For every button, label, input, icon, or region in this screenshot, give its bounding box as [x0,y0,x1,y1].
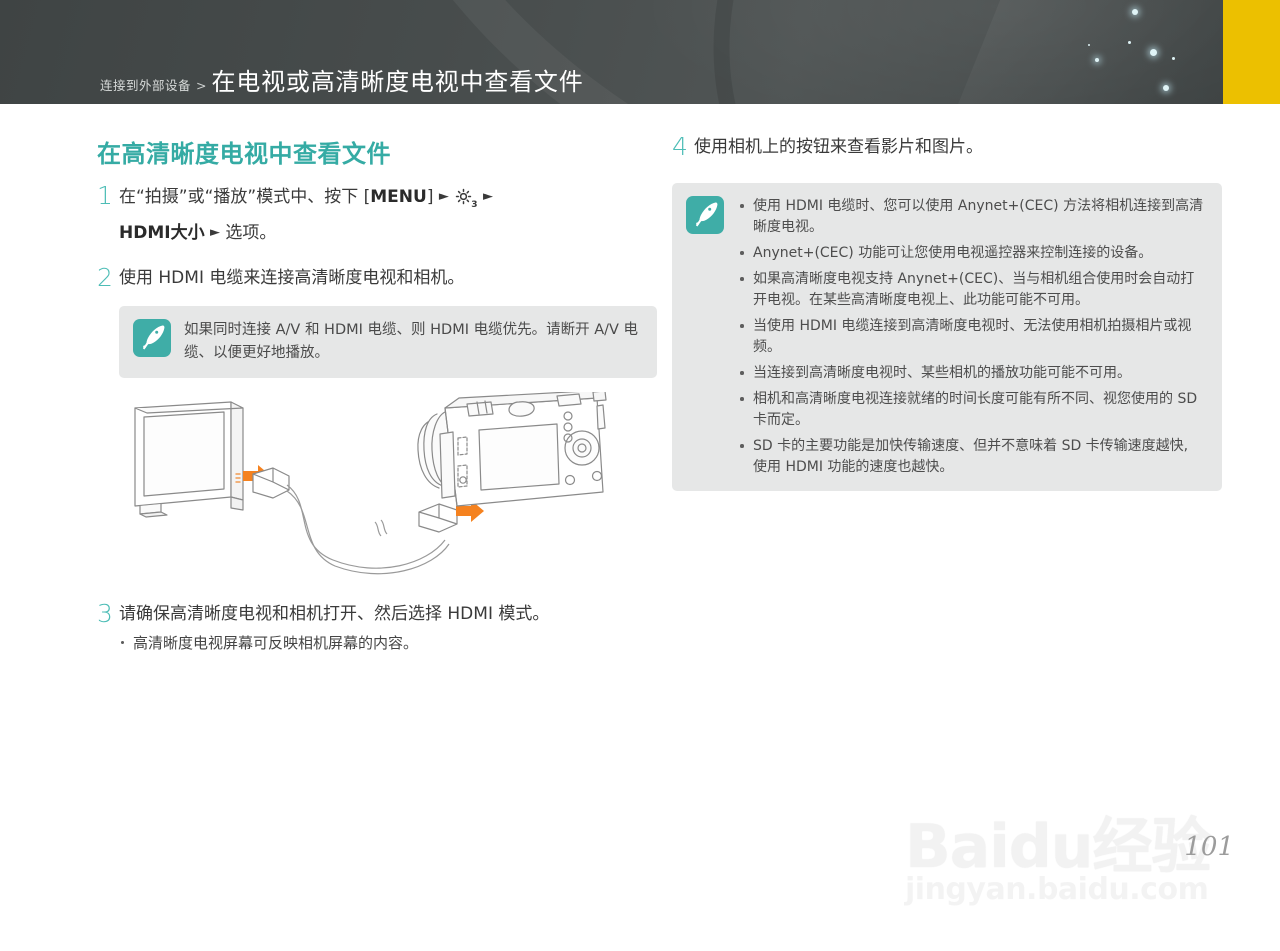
list-item: 使用 HDMI 电缆时、您可以使用 Anynet+(CEC) 方法将相机连接到高… [737,196,1206,238]
header-text-block: 连接到外部设备 > 在电视或高清晰度电视中查看文件 [100,62,584,97]
arrow-right-icon: ► [210,225,220,240]
breadcrumb-separator-icon: > [196,78,206,93]
step-number: 4 [672,134,694,161]
header-sparkle-icon [1132,9,1138,15]
list-item: SD 卡的主要功能是加快传输速度、但并不意味着 SD 卡传输速度越快, 使用 H… [737,436,1206,478]
list-item: 如果高清晰度电视支持 Anynet+(CEC)、当与相机组合使用时会自动打开电视… [737,269,1206,311]
step1-text-part2: ] [427,187,439,207]
header-sparkle-icon [1150,49,1157,56]
menu-button-label: MENU [370,187,427,207]
header-yellow-accent-bar [1223,0,1280,104]
header-sparkle-icon [1163,85,1169,91]
step1-text-part1: 在“拍摄”或“播放”模式中、按下 [ [119,187,370,207]
step-text: 使用相机上的按钮来查看影片和图片。 [694,134,1222,161]
page-title: 在电视或高清晰度电视中查看文件 [212,62,584,97]
step-number: 1 [97,183,119,247]
note-box-left: 如果同时连接 A/V 和 HDMI 电缆、则 HDMI 电缆优先。请断开 A/V… [119,306,657,378]
note-bullet-list: 使用 HDMI 电缆时、您可以使用 Anynet+(CEC) 方法将相机连接到高… [737,196,1206,478]
right-column: 4 使用相机上的按钮来查看影片和图片。 使用 HDMI 电缆时、您可以使用 An… [672,134,1222,491]
step3-sub-bullet-list: 高清晰度电视屏幕可反映相机屏幕的内容。 [119,631,657,655]
hdmi-size-option-label: HDMI大小 [119,223,205,243]
pen-note-icon [133,319,171,357]
header-sparkle-icon [1088,44,1090,46]
page-header: 连接到外部设备 > 在电视或高清晰度电视中查看文件 [0,0,1280,104]
baidu-watermark: Baidu经验 jingyan.baidu.com [905,816,1215,951]
arrow-right-icon: ► [439,189,449,204]
gear-icon [454,187,473,206]
list-item: 当使用 HDMI 电缆连接到高清晰度电视时、无法使用相机拍摄相片或视频。 [737,316,1206,358]
step-2: 2 使用 HDMI 电缆来连接高清晰度电视和相机。 如果同时连接 A/V 和 H… [97,265,657,583]
note-box-right: 使用 HDMI 电缆时、您可以使用 Anynet+(CEC) 方法将相机连接到高… [672,183,1222,491]
step-3: 3 请确保高清晰度电视和相机打开、然后选择 HDMI 模式。 高清晰度电视屏幕可… [97,601,657,655]
header-sparkle-icon [1095,58,1099,62]
step1-text-part3: 选项。 [220,223,276,243]
step-text: 使用 HDMI 电缆来连接高清晰度电视和相机。 如果同时连接 A/V 和 HDM… [119,265,657,583]
note-text: 使用 HDMI 电缆时、您可以使用 Anynet+(CEC) 方法将相机连接到高… [737,196,1206,478]
arrow-right-icon: ► [483,189,493,204]
watermark-brand: Baidu经验 [905,816,1215,878]
step3-text: 请确保高清晰度电视和相机打开、然后选择 HDMI 模式。 [119,601,657,628]
header-sparkle-icon [1128,41,1131,44]
list-item: 相机和高清晰度电视连接就绪的时间长度可能有所不同、视您使用的 SD 卡而定。 [737,389,1206,431]
watermark-url: jingyan.baidu.com [905,872,1215,907]
step-number: 2 [97,265,119,583]
pen-note-icon [686,196,724,234]
list-item: Anynet+(CEC) 功能可让您使用电视遥控器来控制连接的设备。 [737,243,1206,264]
list-item: 当连接到高清晰度电视时、某些相机的播放功能可能不可用。 [737,363,1206,384]
step-1: 1 在“拍摄”或“播放”模式中、按下 [MENU] ► 3 ► HDMI大小 ►… [97,183,657,247]
list-item: 高清晰度电视屏幕可反映相机屏幕的内容。 [119,631,657,655]
step-text: 请确保高清晰度电视和相机打开、然后选择 HDMI 模式。 高清晰度电视屏幕可反映… [119,601,657,655]
step-4: 4 使用相机上的按钮来查看影片和图片。 [672,134,1222,161]
page-body: 在高清晰度电视中查看文件 1 在“拍摄”或“播放”模式中、按下 [MENU] ►… [0,104,1280,906]
page-number: 101 [1184,832,1234,862]
step-text: 在“拍摄”或“播放”模式中、按下 [MENU] ► 3 ► HDMI大小 ► 选… [119,183,657,247]
left-column: 在高清晰度电视中查看文件 1 在“拍摄”或“播放”模式中、按下 [MENU] ►… [97,134,657,673]
step-number: 3 [97,601,119,655]
tv-camera-hdmi-connection-diagram [127,392,647,577]
section-title: 在高清晰度电视中查看文件 [97,134,657,169]
note-text: 如果同时连接 A/V 和 HDMI 电缆、则 HDMI 电缆优先。请断开 A/V… [184,319,641,365]
step2-text: 使用 HDMI 电缆来连接高清晰度电视和相机。 [119,265,657,292]
breadcrumb: 连接到外部设备 [100,75,191,94]
header-sparkle-icon [1172,57,1175,60]
